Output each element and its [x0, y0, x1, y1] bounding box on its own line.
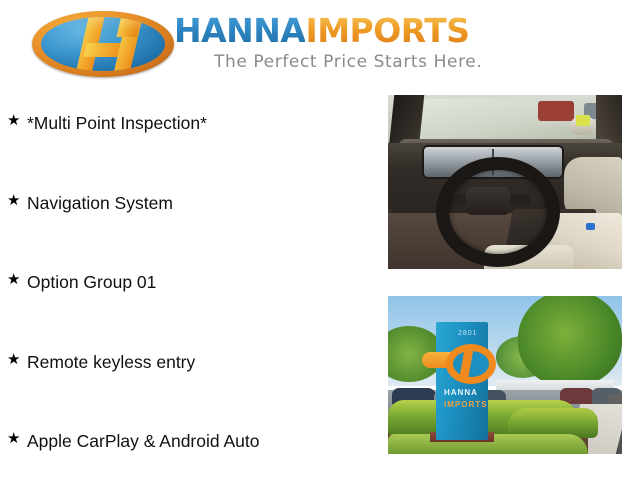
- steering-wheel-hub: [466, 187, 510, 215]
- logo-oval-inner-field: [41, 17, 165, 71]
- brand-tagline: The Perfect Price Starts Here.: [214, 52, 482, 72]
- brand-wordmark: HANNAIMPORTS: [174, 14, 470, 48]
- sign-text-imports: IMPORTS: [444, 400, 487, 409]
- feature-label: Navigation System: [27, 184, 173, 214]
- wordmark-imports: IMPORTS: [305, 11, 469, 50]
- feature-label: Option Group 01: [27, 263, 156, 293]
- console-blue-item: [586, 223, 595, 230]
- feature-list-item: ★ Navigation System: [0, 184, 380, 264]
- vehicle-feature-list: ★ *Multi Point Inspection* ★ Navigation …: [0, 104, 380, 502]
- feature-label: Apple CarPlay & Android Auto: [27, 422, 260, 452]
- outside-red-vehicle: [538, 101, 574, 121]
- feature-label: Remote keyless entry: [27, 343, 195, 373]
- window-sticker-tag: [576, 115, 590, 126]
- vehicle-interior-photo[interactable]: [388, 95, 622, 269]
- star-bullet-icon: ★: [7, 352, 20, 367]
- sign-address-number: 2801: [458, 330, 478, 337]
- star-bullet-icon: ★: [7, 431, 20, 446]
- star-bullet-icon: ★: [7, 272, 20, 287]
- feature-list-item: ★ Option Group 01: [0, 263, 380, 343]
- brand-header: HANNAIMPORTS The Perfect Price Starts He…: [0, 0, 640, 92]
- star-bullet-icon: ★: [7, 113, 20, 128]
- feature-list-item: ★ Apple CarPlay & Android Auto: [0, 422, 380, 502]
- star-bullet-icon: ★: [7, 193, 20, 208]
- feature-list-item: ★ Remote keyless entry: [0, 343, 380, 423]
- tree-large-right: [518, 296, 622, 386]
- dealership-exterior-photo[interactable]: 2801 HANNA IMPORTS: [388, 296, 622, 454]
- hanna-h-oval-logo-icon: [32, 11, 174, 77]
- feature-label: *Multi Point Inspection*: [27, 104, 207, 134]
- wordmark-hanna: HANNA: [174, 11, 305, 50]
- sign-text-hanna: HANNA: [444, 388, 478, 397]
- feature-list-item: ★ *Multi Point Inspection*: [0, 104, 380, 184]
